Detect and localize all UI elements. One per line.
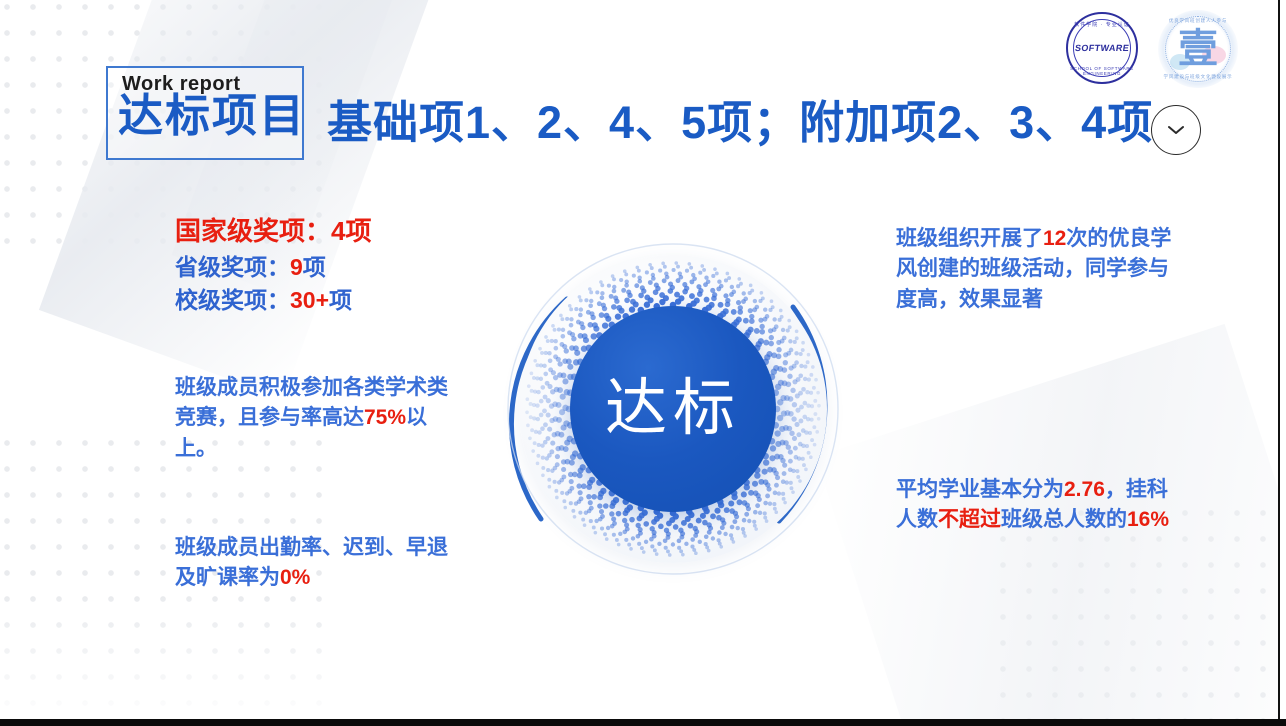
center-circle-graphic: 达标 bbox=[497, 233, 849, 585]
score-text-block: 平均学业基本分为2.76，挂科人数不超过班级总人数的16% bbox=[896, 475, 1186, 536]
slide-header: Work report 达标项目 基础项1、2、4、5项；附加项2、3、4项 软… bbox=[0, 0, 1280, 185]
yi-bottom-text: 学风建设与班级文化建设展示 bbox=[1158, 74, 1238, 80]
yi-logo: 优良学风班创建人人参与 壹 学风建设与班级文化建设展示 bbox=[1158, 10, 1238, 88]
yi-top-text: 优良学风班创建人人参与 bbox=[1158, 18, 1238, 24]
bottom-black-bar bbox=[0, 719, 1286, 726]
award-provincial-label: 省级奖项： bbox=[175, 254, 290, 280]
slide-canvas: Work report 达标项目 基础项1、2、4、5项；附加项2、3、4项 软… bbox=[0, 0, 1280, 719]
activity-text-1: 班级组织开展了 bbox=[896, 227, 1043, 250]
section-label-cn: 达标项目 bbox=[118, 93, 306, 138]
seal-top-text: 软件学院 · 专业认证 bbox=[1068, 21, 1136, 28]
yi-character: 壹 bbox=[1178, 29, 1218, 69]
chevron-down-button[interactable] bbox=[1151, 105, 1201, 155]
score-text-1: 平均学业基本分为 bbox=[896, 478, 1064, 501]
right-edge-filler bbox=[1280, 0, 1286, 719]
activity-text-block: 班级组织开展了12次的优良学风创建的班级活动，同学参与度高，效果显著 bbox=[896, 224, 1181, 315]
score-highlight-percent: 16% bbox=[1127, 508, 1169, 531]
award-row-national: 国家级奖项：4项 bbox=[175, 213, 505, 251]
attendance-text-block: 班级成员出勤率、迟到、早退及旷课率为0% bbox=[175, 533, 465, 594]
award-provincial-value: 9 bbox=[290, 254, 303, 280]
core-circle: 达标 bbox=[570, 306, 776, 512]
awards-summary: 国家级奖项：4项 省级奖项：9项 校级奖项：30+项 bbox=[175, 213, 505, 317]
contest-highlight-rate: 75% bbox=[364, 406, 406, 429]
award-row-provincial: 省级奖项：9项 bbox=[175, 251, 505, 284]
score-highlight-notexceed: 不超过 bbox=[938, 508, 1001, 531]
chevron-down-icon bbox=[1166, 124, 1186, 136]
award-school-value: 30+ bbox=[290, 287, 329, 313]
award-school-suffix: 项 bbox=[329, 287, 352, 313]
page-title: 基础项1、2、4、5项；附加项2、3、4项 bbox=[327, 98, 1153, 148]
contest-text-block: 班级成员积极参加各类学术类竞赛，且参与率高达75%以上。 bbox=[175, 373, 465, 464]
seal-bottom-text: SCHOOL OF SOFTWARE ENGINEERING bbox=[1068, 66, 1136, 76]
award-school-label: 校级奖项： bbox=[175, 287, 290, 313]
award-provincial-suffix: 项 bbox=[303, 254, 326, 280]
software-seal-logo: 软件学院 · 专业认证 SOFTWARE SCHOOL OF SOFTWARE … bbox=[1066, 12, 1138, 84]
award-row-school: 校级奖项：30+项 bbox=[175, 284, 505, 317]
attendance-text-1: 班级成员出勤率、迟到、早退及旷课率为 bbox=[175, 536, 448, 589]
seal-wordmark: SOFTWARE bbox=[1074, 43, 1130, 53]
core-label: 达标 bbox=[605, 378, 741, 440]
score-highlight-average: 2.76 bbox=[1064, 478, 1105, 501]
attendance-highlight-rate: 0% bbox=[280, 566, 310, 589]
score-text-3: 班级总人数的 bbox=[1001, 508, 1127, 531]
activity-highlight-count: 12 bbox=[1043, 227, 1066, 250]
